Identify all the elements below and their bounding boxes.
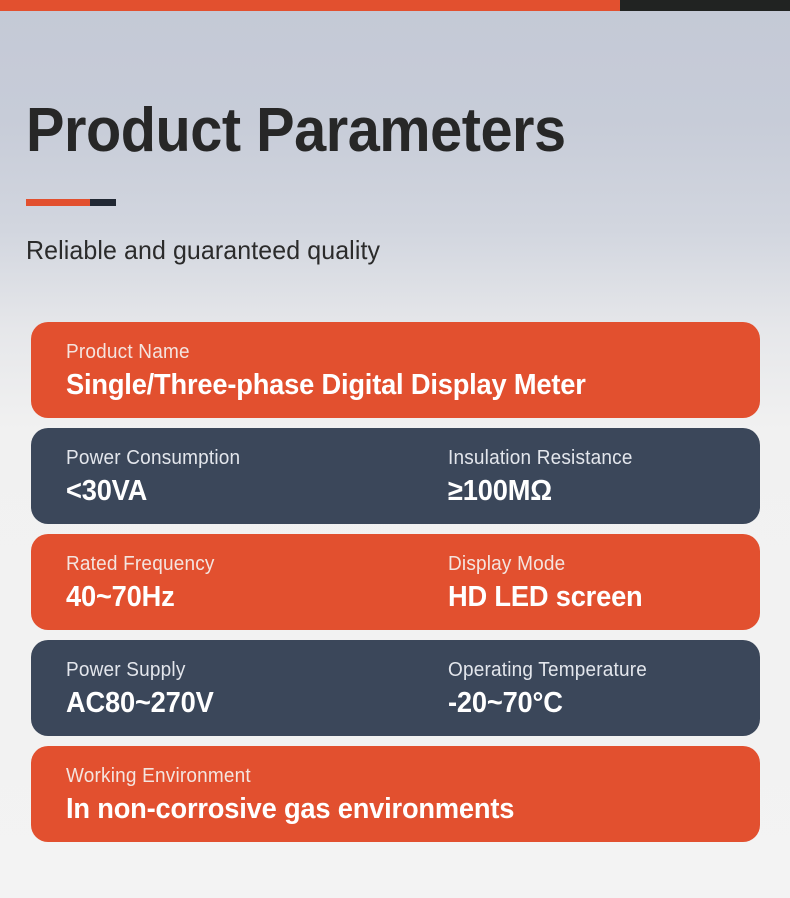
spec-item: Working Environment In non-corrosive gas… xyxy=(66,764,760,826)
spec-card: Product Name Single/Three-phase Digital … xyxy=(31,322,760,418)
spec-value: -20~70°C xyxy=(448,686,741,720)
spec-value: 40~70Hz xyxy=(66,580,425,614)
page-subtitle: Reliable and guaranteed quality xyxy=(26,235,736,265)
title-divider-dark-segment xyxy=(90,199,116,206)
spec-card-columns: Power Supply AC80~270V Operating Tempera… xyxy=(66,658,760,720)
spec-card-list: Product Name Single/Three-phase Digital … xyxy=(31,322,760,842)
title-divider xyxy=(26,199,116,206)
spec-card: Power Supply AC80~270V Operating Tempera… xyxy=(31,640,760,736)
spec-label: Display Mode xyxy=(448,552,744,576)
spec-item: Rated Frequency 40~70Hz xyxy=(66,552,448,614)
top-accent-bar xyxy=(0,0,790,11)
spec-label: Product Name xyxy=(66,340,725,364)
spec-label: Insulation Resistance xyxy=(448,446,744,470)
spec-item: Operating Temperature -20~70°C xyxy=(448,658,760,720)
spec-item: Power Consumption <30VA xyxy=(66,446,448,508)
page-title: Product Parameters xyxy=(26,96,714,166)
product-parameters-page: Product Parameters Reliable and guarante… xyxy=(0,0,790,898)
spec-label: Working Environment xyxy=(66,764,725,788)
spec-label: Power Consumption xyxy=(66,446,429,470)
spec-card-columns: Product Name Single/Three-phase Digital … xyxy=(66,340,760,402)
spec-value: In non-corrosive gas environments xyxy=(66,792,718,826)
spec-label: Rated Frequency xyxy=(66,552,429,576)
spec-card-columns: Power Consumption <30VA Insulation Resis… xyxy=(66,446,760,508)
spec-value: <30VA xyxy=(66,474,425,508)
top-accent-bar-dark-segment xyxy=(620,0,790,11)
spec-item: Power Supply AC80~270V xyxy=(66,658,448,720)
spec-card-columns: Working Environment In non-corrosive gas… xyxy=(66,764,760,826)
spec-value: AC80~270V xyxy=(66,686,425,720)
spec-card: Working Environment In non-corrosive gas… xyxy=(31,746,760,842)
spec-item: Product Name Single/Three-phase Digital … xyxy=(66,340,760,402)
spec-item: Display Mode HD LED screen xyxy=(448,552,760,614)
title-divider-orange-segment xyxy=(26,199,90,206)
spec-label: Power Supply xyxy=(66,658,429,682)
spec-card: Power Consumption <30VA Insulation Resis… xyxy=(31,428,760,524)
spec-card: Rated Frequency 40~70Hz Display Mode HD … xyxy=(31,534,760,630)
spec-item: Insulation Resistance ≥100MΩ xyxy=(448,446,760,508)
spec-card-columns: Rated Frequency 40~70Hz Display Mode HD … xyxy=(66,552,760,614)
spec-value: ≥100MΩ xyxy=(448,474,741,508)
top-accent-bar-orange-segment xyxy=(0,0,620,11)
spec-label: Operating Temperature xyxy=(448,658,744,682)
spec-value: Single/Three-phase Digital Display Meter xyxy=(66,368,718,402)
page-header: Product Parameters Reliable and guarante… xyxy=(26,96,766,265)
spec-value: HD LED screen xyxy=(448,580,741,614)
